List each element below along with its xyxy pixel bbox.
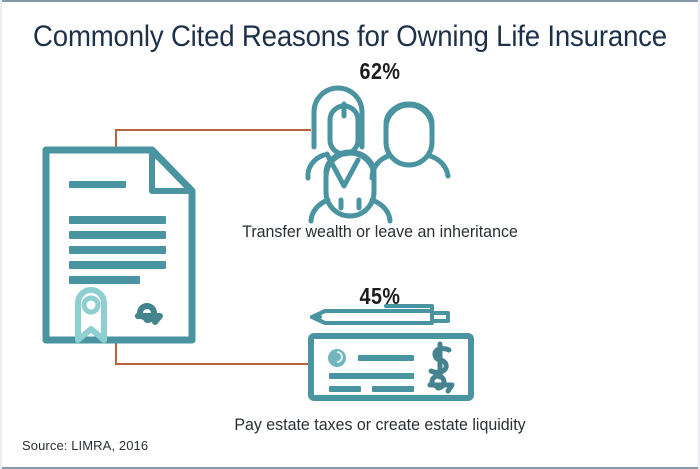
family-icon [308, 88, 448, 221]
document-body-line [69, 231, 166, 239]
check-and-pen-icon [311, 306, 471, 398]
source-note: Source: LIMRA, 2016 [22, 438, 148, 453]
document-body-line [69, 216, 166, 224]
percent-label-family: 62% [328, 58, 431, 85]
document-body-line [69, 261, 166, 269]
document-body-line [69, 246, 166, 254]
check-line [358, 355, 414, 361]
policy-document-icon [46, 150, 192, 340]
caption-family: Transfer wealth or leave an inheritance [211, 222, 549, 242]
document-sheet-outline [46, 150, 192, 340]
pen-barrel [312, 311, 432, 323]
pen-end-cap [432, 313, 448, 321]
document-heading-line [69, 181, 126, 188]
family-icon-woman [308, 88, 362, 186]
document-body-line [69, 276, 140, 284]
caption-check: Pay estate taxes or create estate liquid… [201, 415, 558, 435]
check-line [329, 386, 361, 392]
check-line [329, 373, 414, 379]
check-line [372, 386, 414, 392]
family-icon-man [372, 104, 448, 178]
infographic-canvas: Commonly Cited Reasons for Owning Life I… [0, 0, 700, 469]
percent-label-check: 45% [328, 283, 431, 310]
